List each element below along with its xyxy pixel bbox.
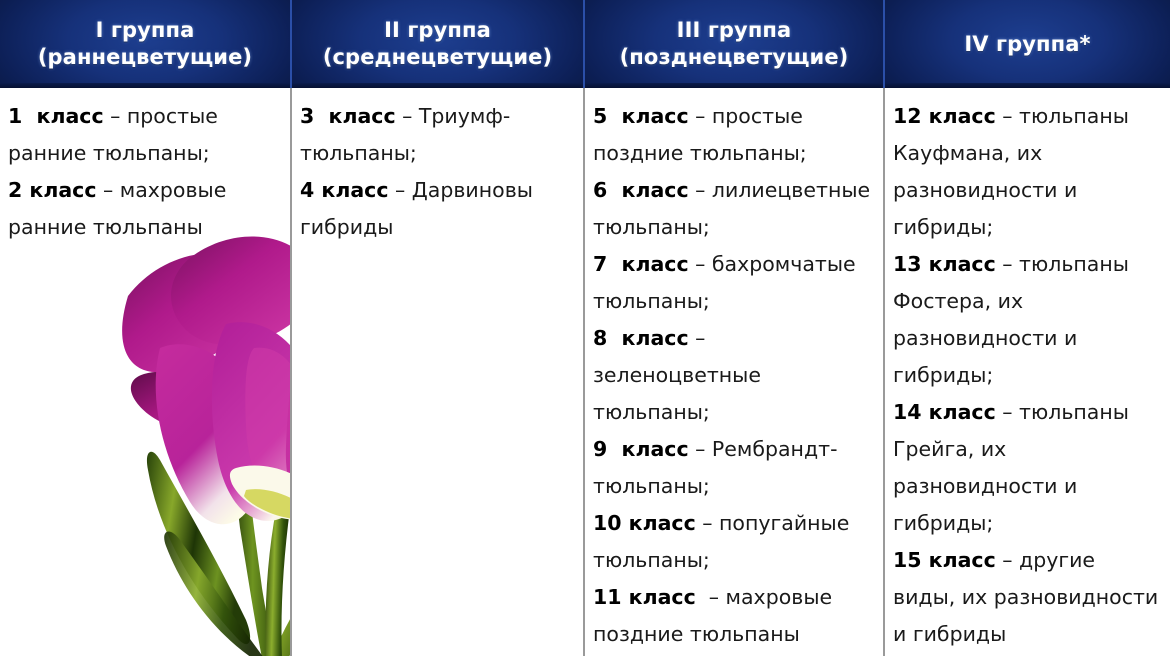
body-cell-group-2: 3 класс – Триумф-тюльпаны; 4 класс – Дар… [292,88,585,656]
tulip-petal-top-left [122,253,263,372]
tulip-petal-top-middle [171,236,292,345]
class-number-label: 6 класс [593,178,689,202]
body-cell-group-1: 1 класс – простые ранние тюльпаны; 2 кла… [0,88,292,656]
header-group-2-title: II группа [384,17,491,44]
tulip-petal-highlight [245,348,292,489]
header-group-2-subtitle: (среднецветущие) [323,44,552,71]
tulip-stem [232,408,278,656]
tulip-illustration [40,228,292,656]
header-cell-group-2: II группа (среднецветущие) [292,0,585,88]
tulip-base-white [230,466,292,521]
class-number-label: 5 класс [593,104,689,128]
class-number-label: 11 класс [593,585,696,609]
header-group-1-title: I группа [96,17,195,44]
tulip-base-yellow [244,489,292,519]
tulip-petal-front-center [212,322,292,521]
header-group-1-subtitle: (раннецветущие) [38,44,252,71]
class-number-label: 14 класс [893,400,996,424]
group-4-class-list: 12 класс – тюльпаны Кауфмана, их разнови… [893,98,1162,653]
class-number-label: 9 класс [593,437,689,461]
header-group-3-title: III группа [677,17,792,44]
header-cell-group-4: IV группа* [885,0,1170,88]
tulip-leaf-left [147,452,250,644]
group-3-class-list: 5 класс – простые поздние тюльпаны; 6 кл… [593,98,875,653]
header-group-3-subtitle: (позднецветущие) [620,44,849,71]
class-number-label: 3 класс [300,104,396,128]
tulip-petal-outer-left [131,372,239,439]
header-group-4-title: IV группа* [964,31,1090,58]
tulip-classification-table: I группа (раннецветущие) II группа (сред… [0,0,1170,656]
class-number-label: 13 класс [893,252,996,276]
class-number-label: 8 класс [593,326,689,350]
body-cell-group-3: 5 класс – простые поздние тюльпаны; 6 кл… [585,88,885,656]
tulip-petal-front-left [156,344,261,524]
class-number-label: 2 класс [8,178,96,202]
group-2-class-list: 3 класс – Триумф-тюльпаны; 4 класс – Дар… [300,98,575,246]
tulip-leaf-center [266,479,292,656]
class-number-label: 12 класс [893,104,996,128]
table-header-row: I группа (раннецветущие) II группа (сред… [0,0,1170,88]
header-cell-group-1: I группа (раннецветущие) [0,0,292,88]
body-cell-group-4: 12 класс – тюльпаны Кауфмана, их разнови… [885,88,1170,656]
class-number-label: 10 класс [593,511,696,535]
class-number-label: 7 класс [593,252,689,276]
table-body-row: 1 класс – простые ранние тюльпаны; 2 кла… [0,88,1170,656]
group-1-class-list: 1 класс – простые ранние тюльпаны; 2 кла… [8,98,282,246]
tulip-leaf-right [272,517,292,656]
class-number-label: 1 класс [8,104,104,128]
class-number-label: 4 класс [300,178,388,202]
class-number-label: 15 класс [893,548,996,572]
tulip-leaf-left-lower [164,531,264,656]
header-cell-group-3: III группа (позднецветущие) [585,0,885,88]
